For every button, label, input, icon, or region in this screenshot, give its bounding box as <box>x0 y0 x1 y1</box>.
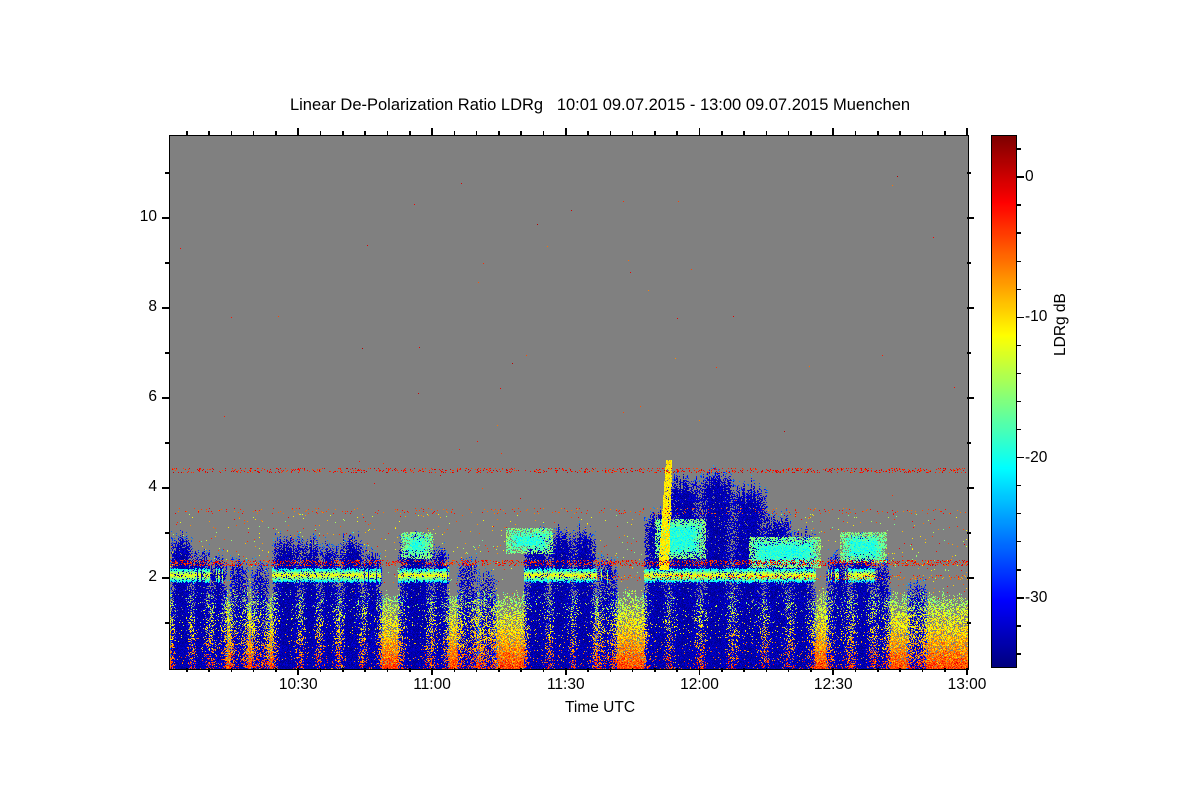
chart-title: Linear De-Polarization Ratio LDRg 10:01 … <box>0 96 1200 115</box>
colorbar-minor-tick <box>1017 204 1021 205</box>
y-tick-label: 2 <box>123 568 157 586</box>
y-major-tick-right <box>967 217 974 219</box>
y-tick-label: 6 <box>123 388 157 406</box>
y-tick-label: 8 <box>123 298 157 316</box>
y-minor-tick-right <box>967 352 971 354</box>
x-minor-tick <box>387 668 389 672</box>
y-minor-tick-right <box>967 172 971 174</box>
y-major-tick <box>162 577 169 579</box>
x-minor-tick <box>944 668 946 672</box>
x-tick-label: 11:00 <box>413 676 451 694</box>
colorbar-major-tick <box>1017 457 1024 459</box>
x-major-tick <box>699 668 701 675</box>
x-minor-tick-top <box>320 131 322 135</box>
x-tick-label: 12:00 <box>680 676 719 694</box>
x-minor-tick-top <box>766 131 768 135</box>
colorbar-major-tick <box>1017 597 1024 599</box>
x-minor-tick-top <box>610 131 612 135</box>
x-minor-tick <box>208 668 210 672</box>
y-major-tick-right <box>967 577 974 579</box>
x-minor-tick <box>877 668 879 672</box>
colorbar-tick-label: 0 <box>1025 168 1034 186</box>
x-minor-tick-top <box>721 131 723 135</box>
x-minor-tick <box>520 668 522 672</box>
x-minor-tick-top <box>186 131 188 135</box>
x-minor-tick <box>855 668 857 672</box>
y-tick-label: 4 <box>123 478 157 496</box>
x-minor-tick <box>275 668 277 672</box>
x-minor-tick <box>788 668 790 672</box>
x-minor-tick-top <box>877 131 879 135</box>
y-minor-tick-right <box>967 262 971 264</box>
x-major-tick-top <box>431 128 433 135</box>
colorbar-minor-tick <box>1017 625 1021 626</box>
x-minor-tick-top <box>810 131 812 135</box>
x-minor-tick <box>498 668 500 672</box>
x-major-tick <box>431 668 433 675</box>
y-minor-tick <box>165 622 169 624</box>
x-minor-tick-top <box>899 131 901 135</box>
x-major-tick-top <box>565 128 567 135</box>
y-minor-tick-right <box>967 442 971 444</box>
colorbar-major-tick <box>1017 317 1024 319</box>
y-minor-tick <box>165 172 169 174</box>
y-major-tick-right <box>967 487 974 489</box>
x-minor-tick <box>899 668 901 672</box>
x-major-tick-top <box>297 128 299 135</box>
x-minor-tick <box>320 668 322 672</box>
x-minor-tick-top <box>676 131 678 135</box>
colorbar-label: LDRg dB <box>1052 293 1070 356</box>
x-tick-label: 12:30 <box>814 676 853 694</box>
colorbar-minor-tick <box>1017 513 1021 514</box>
x-minor-tick-top <box>520 131 522 135</box>
x-minor-tick-top <box>632 131 634 135</box>
colorbar-minor-tick <box>1017 261 1021 262</box>
x-minor-tick-top <box>654 131 656 135</box>
colorbar-minor-tick <box>1017 289 1021 290</box>
x-minor-tick <box>364 668 366 672</box>
x-major-tick-top <box>832 128 834 135</box>
x-minor-tick <box>476 668 478 672</box>
x-minor-tick <box>409 668 411 672</box>
x-minor-tick <box>342 668 344 672</box>
x-minor-tick-top <box>587 131 589 135</box>
y-minor-tick <box>165 532 169 534</box>
x-minor-tick-top <box>788 131 790 135</box>
plot-area <box>169 135 969 670</box>
x-tick-label: 10:30 <box>279 676 318 694</box>
colorbar-tick-label: -10 <box>1025 308 1047 326</box>
x-minor-tick <box>610 668 612 672</box>
colorbar-minor-tick <box>1017 485 1021 486</box>
y-tick-label: 10 <box>123 208 157 226</box>
y-major-tick-right <box>967 307 974 309</box>
y-major-tick <box>162 487 169 489</box>
y-minor-tick-right <box>967 622 971 624</box>
colorbar-minor-tick <box>1017 232 1021 233</box>
x-minor-tick <box>632 668 634 672</box>
x-minor-tick <box>743 668 745 672</box>
x-minor-tick-top <box>208 131 210 135</box>
colorbar-minor-tick <box>1017 345 1021 346</box>
x-minor-tick <box>231 668 233 672</box>
colorbar-minor-tick <box>1017 429 1021 430</box>
x-minor-tick-top <box>364 131 366 135</box>
y-minor-tick <box>165 442 169 444</box>
x-minor-tick-top <box>454 131 456 135</box>
x-minor-tick-top <box>743 131 745 135</box>
x-major-tick <box>832 668 834 675</box>
colorbar: 0-10-20-30 <box>991 135 1017 668</box>
x-minor-tick <box>810 668 812 672</box>
x-minor-tick-top <box>944 131 946 135</box>
colorbar-tick-label: -20 <box>1025 449 1047 467</box>
x-minor-tick <box>543 668 545 672</box>
colorbar-major-tick <box>1017 176 1024 178</box>
x-minor-tick-top <box>543 131 545 135</box>
radar-heatmap <box>170 136 968 669</box>
colorbar-minor-tick <box>1017 569 1021 570</box>
colorbar-tick-label: -30 <box>1025 589 1047 607</box>
x-minor-tick-top <box>476 131 478 135</box>
x-axis-label: Time UTC <box>0 699 1200 717</box>
x-minor-tick <box>253 668 255 672</box>
y-major-tick <box>162 217 169 219</box>
x-minor-tick-top <box>231 131 233 135</box>
x-major-tick <box>966 668 968 675</box>
x-minor-tick-top <box>409 131 411 135</box>
y-minor-tick <box>165 352 169 354</box>
figure-canvas: Linear De-Polarization Ratio LDRg 10:01 … <box>0 0 1200 800</box>
x-minor-tick-top <box>922 131 924 135</box>
colorbar-minor-tick <box>1017 653 1021 654</box>
x-minor-tick <box>676 668 678 672</box>
x-major-tick-top <box>966 128 968 135</box>
colorbar-gradient <box>991 135 1017 668</box>
colorbar-minor-tick <box>1017 541 1021 542</box>
x-minor-tick <box>587 668 589 672</box>
colorbar-minor-tick <box>1017 401 1021 402</box>
x-major-tick <box>565 668 567 675</box>
x-minor-tick-top <box>498 131 500 135</box>
x-minor-tick <box>186 668 188 672</box>
x-minor-tick-top <box>342 131 344 135</box>
x-minor-tick <box>766 668 768 672</box>
x-major-tick-top <box>699 128 701 135</box>
colorbar-minor-tick <box>1017 148 1021 149</box>
x-minor-tick <box>721 668 723 672</box>
y-minor-tick <box>165 262 169 264</box>
y-major-tick <box>162 397 169 399</box>
x-minor-tick-top <box>855 131 857 135</box>
y-major-tick-right <box>967 397 974 399</box>
x-minor-tick <box>654 668 656 672</box>
y-major-tick <box>162 307 169 309</box>
x-minor-tick-top <box>387 131 389 135</box>
y-minor-tick-right <box>967 532 971 534</box>
x-minor-tick <box>922 668 924 672</box>
x-minor-tick-top <box>253 131 255 135</box>
x-tick-label: 13:00 <box>948 676 987 694</box>
x-major-tick <box>297 668 299 675</box>
colorbar-minor-tick <box>1017 373 1021 374</box>
x-tick-label: 11:30 <box>547 676 585 694</box>
x-minor-tick <box>454 668 456 672</box>
x-minor-tick-top <box>275 131 277 135</box>
